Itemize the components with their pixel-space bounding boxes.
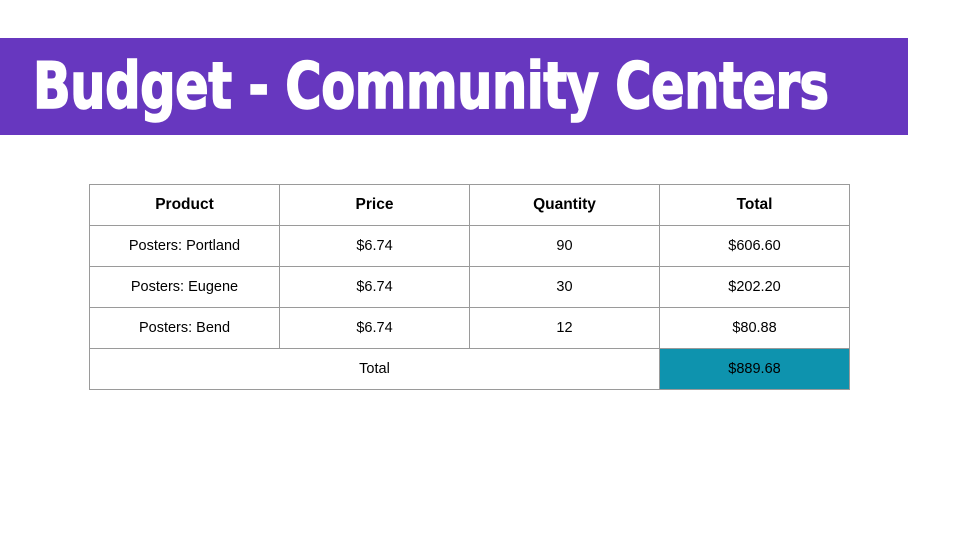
cell-price: $6.74 (280, 226, 470, 267)
cell-quantity: 30 (470, 267, 660, 308)
cell-total: $202.20 (660, 267, 850, 308)
summary-label: Total (90, 349, 660, 390)
cell-product: Posters: Eugene (90, 267, 280, 308)
column-header-total: Total (660, 185, 850, 226)
column-header-quantity: Quantity (470, 185, 660, 226)
column-header-price: Price (280, 185, 470, 226)
cell-product: Posters: Portland (90, 226, 280, 267)
table-header: Product Price Quantity Total (90, 185, 850, 226)
table-row: Posters: Eugene $6.74 30 $202.20 (90, 267, 850, 308)
cell-quantity: 90 (470, 226, 660, 267)
table-row: Posters: Bend $6.74 12 $80.88 (90, 308, 850, 349)
cell-total: $80.88 (660, 308, 850, 349)
page-title: Budget - Community Centers (33, 55, 829, 119)
cell-quantity: 12 (470, 308, 660, 349)
grand-total-value: $889.68 (660, 349, 850, 390)
cell-product: Posters: Bend (90, 308, 280, 349)
cell-price: $6.74 (280, 267, 470, 308)
cell-price: $6.74 (280, 308, 470, 349)
cell-total: $606.60 (660, 226, 850, 267)
column-header-product: Product (90, 185, 280, 226)
table-summary-row: Total $889.68 (90, 349, 850, 390)
table-header-row: Product Price Quantity Total (90, 185, 850, 226)
table-body: Posters: Portland $6.74 90 $606.60 Poste… (90, 226, 850, 390)
title-banner: Budget - Community Centers (0, 38, 908, 135)
budget-table: Product Price Quantity Total Posters: Po… (89, 184, 850, 390)
table-row: Posters: Portland $6.74 90 $606.60 (90, 226, 850, 267)
